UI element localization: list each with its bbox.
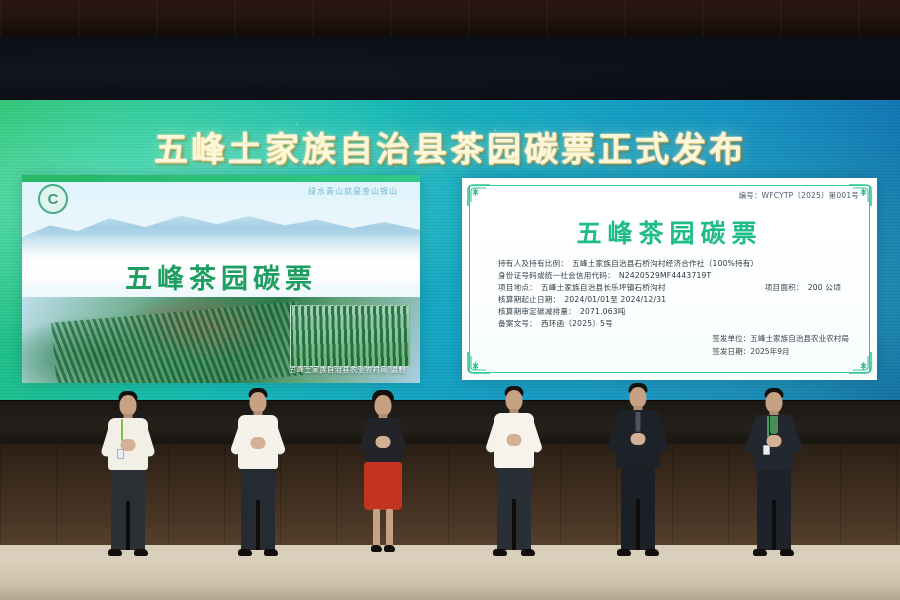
person-shoe-left	[753, 549, 767, 556]
stage-ceremony-scene: 五峰土家族自治县茶园碳票正式发布 C 绿水青山就是金山银山 五峰茶园碳票 五峰土…	[0, 0, 900, 600]
person-necktie	[636, 412, 641, 432]
certificate-row: 持有人及持有比例： 五峰土家族自治县石桥沟村经济合作社（100%持有）	[498, 258, 855, 270]
person-inner-shirt	[770, 416, 778, 434]
person-shoe-right	[264, 549, 278, 556]
certificate-signature-block: 签发单位：五峰土家族自治县农业农村局 签发日期：2025年9月	[712, 333, 849, 358]
person-head	[120, 395, 137, 416]
row-value: 西环函〔2025〕5号	[541, 318, 613, 330]
tea-field-inset-photo	[290, 305, 410, 367]
certificate-row: 核算期起止日期： 2024/01/01至 2024/12/31	[498, 294, 855, 306]
person-shoe-left	[371, 545, 382, 552]
row-value: 五峰土家族自治县石桥沟村经济合作社（100%持有）	[572, 258, 758, 270]
person-leg-gap	[512, 499, 516, 550]
person-head	[765, 392, 782, 413]
person-head	[250, 392, 267, 413]
person-head	[630, 387, 647, 408]
signing-organization: 签发单位：五峰土家族自治县农业农村局	[712, 333, 849, 345]
certificate-row: 身份证号码或统一社会信用代码： N2420529MF4443719T	[498, 270, 855, 282]
row-value: N2420529MF4443719T	[619, 270, 711, 282]
person-lanyard	[767, 416, 769, 437]
person-shoe-left	[238, 549, 252, 556]
person-leg-right	[386, 509, 393, 547]
row-label: 核算期起止日期：	[498, 294, 560, 306]
person-head	[506, 390, 523, 411]
corner-ornament-icon	[466, 182, 492, 208]
person-shoe-left	[108, 549, 122, 556]
person-clapping-hands	[251, 437, 266, 449]
carbon-ticket-certificate: 编号：WFCYTP〔2025〕第001号 五峰茶园碳票 持有人及持有比例： 五峰…	[462, 178, 877, 380]
person-shoe-left	[493, 549, 507, 556]
row-label-secondary: 项目面积：	[765, 282, 804, 294]
person-1	[100, 391, 156, 558]
certificate-row: 项目地点： 五峰土家族自治县长乐坪镇石桥沟村 项目面积： 200 公顷	[498, 282, 855, 294]
person-skirt	[364, 462, 402, 510]
row-value-secondary: 200 公顷	[808, 282, 841, 294]
certificate-row: 备案文号： 西环函〔2025〕5号	[498, 318, 855, 330]
person-clapping-hands	[376, 436, 391, 448]
certificate-serial-number: 编号：WFCYTP〔2025〕第001号	[739, 190, 859, 201]
event-headline: 五峰土家族自治县茶园碳票正式发布	[0, 122, 900, 171]
person-2	[230, 388, 286, 558]
signing-date: 签发日期：2025年9月	[712, 346, 849, 358]
person-4	[485, 386, 543, 558]
certificate-detail-list: 持有人及持有比例： 五峰土家族自治县石桥沟村经济合作社（100%持有） 身份证号…	[498, 258, 855, 330]
person-leg-gap	[636, 499, 640, 550]
poster-slogan: 绿水青山就是金山银山	[308, 186, 398, 197]
person-id-badge	[117, 449, 124, 459]
poster-title: 五峰茶园碳票	[22, 257, 420, 296]
person-5	[608, 383, 668, 558]
person-id-badge	[763, 445, 770, 455]
row-value: 2071.063吨	[580, 306, 626, 318]
certificate-row: 核算期审定碳减排量： 2071.063吨	[498, 306, 855, 318]
row-value: 2024/01/01至 2024/12/31	[564, 294, 666, 306]
certificate-title: 五峰茶园碳票	[462, 214, 877, 250]
venue-ceiling	[0, 0, 900, 36]
person-leg-left	[373, 509, 380, 547]
person-shoe-right	[134, 549, 148, 556]
person-3	[357, 390, 409, 558]
led-display-screen: 五峰土家族自治县茶园碳票正式发布 C 绿水青山就是金山银山 五峰茶园碳票 五峰土…	[0, 100, 900, 400]
row-label: 持有人及持有比例：	[498, 258, 568, 270]
person-shoe-left	[617, 549, 631, 556]
certification-emblem-icon: C	[38, 184, 68, 214]
person-lanyard	[121, 419, 123, 441]
corner-ornament-icon	[847, 350, 873, 376]
person-leg-gap	[126, 501, 130, 550]
person-6	[745, 388, 802, 558]
row-label: 身份证号码或统一社会信用代码：	[498, 270, 615, 282]
row-label: 项目地点：	[498, 282, 537, 294]
person-leg-gap	[256, 500, 260, 550]
person-head	[375, 395, 392, 416]
row-label: 备案文号：	[498, 318, 537, 330]
poster-top-bar	[22, 175, 420, 182]
tea-plantation-photo: 五峰土家族自治县农业农村局 监制	[22, 297, 420, 383]
person-shoe-right	[521, 549, 535, 556]
poster-credit: 五峰土家族自治县农业农村局 监制	[289, 365, 406, 375]
venue-upper-wall	[0, 36, 900, 102]
person-clapping-hands	[507, 434, 522, 446]
person-clapping-hands	[631, 433, 646, 445]
poster-carbon-ticket: C 绿水青山就是金山银山 五峰茶园碳票 五峰土家族自治县农业农村局 监制	[22, 175, 420, 383]
person-shoe-right	[645, 549, 659, 556]
row-value: 五峰土家族自治县长乐坪镇石桥沟村	[541, 282, 666, 294]
person-shoe-right	[384, 545, 395, 552]
corner-ornament-icon	[466, 350, 492, 376]
person-shoe-right	[780, 549, 794, 556]
row-label: 核算期审定碳减排量：	[498, 306, 576, 318]
person-leg-gap	[772, 500, 776, 550]
